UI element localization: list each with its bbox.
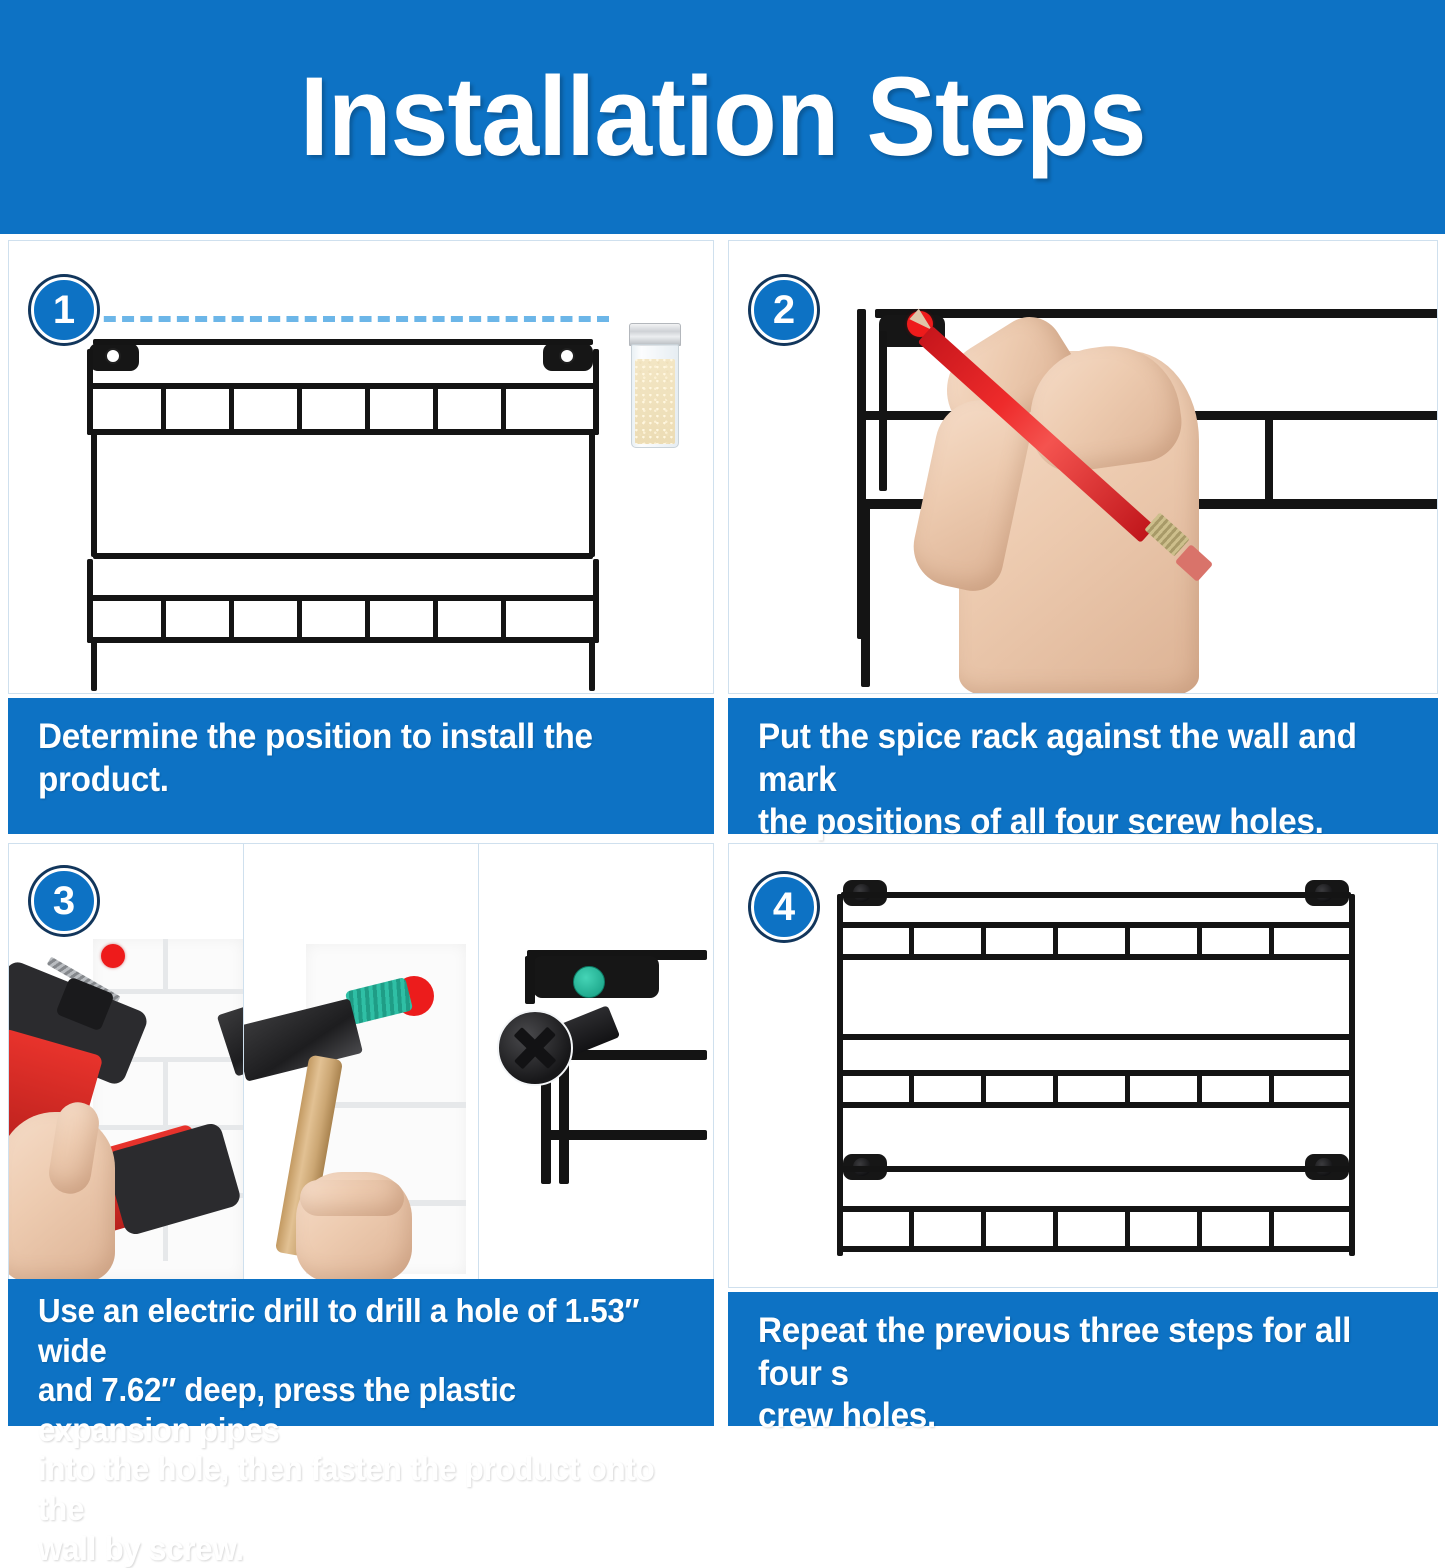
step-3-caption: Use an electric drill to drill a hole of… [8,1279,714,1426]
step-badge-4: 4 [751,874,817,940]
mounted-tier1-front-rail [837,922,1355,928]
screw-hole-top-right [559,348,575,364]
rack-right-spine [589,431,595,557]
mounted-tier2-div-1 [909,1072,914,1104]
mounted-tier3-div-6 [1269,1208,1274,1248]
step-badge-2: 2 [751,277,817,343]
brick-line-5 [163,939,168,989]
anchor-in-wall-icon [573,966,605,998]
mounted-tier3-top-rail [841,1166,1351,1172]
rack-lower-left-post [91,641,97,691]
jar-glass-body [631,344,679,448]
rack-tier2-divider-4 [365,597,370,641]
rack-tier2-divider-5 [433,597,438,641]
rack-angled-bottom-post [861,507,870,687]
substep-fasten-screw [479,844,713,1285]
mounted-tier2-div-2 [981,1072,986,1104]
mounted-tier3-div-4 [1125,1208,1130,1248]
header-banner: Installation Steps [0,0,1445,234]
rack-tier1-right-post [593,349,599,435]
rack-tier1-divider-5 [433,385,438,433]
rack-tier1-divider-4 [365,385,370,433]
rack-tier1-divider-6 [501,385,506,433]
rack-tier2-divider-1 [161,597,166,641]
step-card-3: 3 Use an electric drill to drill a hole … [8,843,714,1426]
mounted-tier2-div-3 [1053,1072,1058,1104]
rack-lower-right-post [589,641,595,691]
step-2-caption-line-1: Put the spice rack against the wall and … [758,716,1381,801]
step-3-caption-line-2: and 7.62″ deep, press the plastic expans… [38,1370,657,1449]
step-3-illustration: 3 [8,843,714,1286]
step-2-caption: Put the spice rack against the wall and … [728,698,1438,834]
step-4-illustration: 4 [728,843,1438,1288]
screw-hole-top-left [105,348,121,364]
mounted-spice-rack [837,876,1367,1262]
step-1-caption: Determine the position to install the pr… [8,698,714,834]
mounted-tier1-top-rail [841,892,1351,898]
rack-tier1-divider-3 [297,385,302,433]
mounted-tier3-div-1 [909,1208,914,1248]
mounted-tier3-div-5 [1197,1208,1202,1248]
step-3-caption-line-3: into the hole, then fasten the product o… [38,1449,657,1528]
step-card-4: 4 Repeat the previous three steps for al… [728,843,1438,1426]
mounted-tier1-div-2 [981,924,986,956]
mounted-tier2-top-rail [841,1034,1351,1040]
jar-seasoning-fill [635,359,675,444]
mounted-tier3-div-2 [981,1208,986,1248]
mounted-tier2-bottom-rail [837,1102,1355,1108]
step-badge-1: 1 [31,277,97,343]
rack-tier2-top-rail [93,553,593,559]
step-2-illustration: 2 [728,240,1438,694]
mounted-tier2-front-rail [837,1070,1355,1076]
spice-rack-wireframe [87,331,607,661]
step-card-2: 2 Put the spice rack against the wall an… [728,240,1438,834]
jar-lid-icon [629,323,681,346]
step-1-illustration: 1 [8,240,714,694]
rack-tier1-divider-2 [229,385,234,433]
rack-tier1-left-post [87,349,93,435]
step-3-subpanels [9,844,713,1285]
step-4-caption-line-1: Repeat the previous three steps for all … [758,1310,1381,1395]
rack-tier2-divider-3 [297,597,302,641]
rack-tier1-divider-1 [161,385,166,433]
step-3-caption-line-4: wall by screw. [38,1529,657,1568]
mounted-tier1-div-6 [1269,924,1274,956]
mounted-tier1-div-1 [909,924,914,956]
mounted-tier3-div-3 [1053,1208,1058,1248]
mounted-tier1-div-4 [1125,924,1130,956]
alignment-guide-line [49,316,609,322]
rack-left-spine [91,431,97,557]
mounted-tier2-div-4 [1125,1072,1130,1104]
rack-top-rail [93,339,593,345]
rack-detail-left-post [525,956,535,1004]
rack-tier2-right-post [593,559,599,643]
rack-tier2-left-post [87,559,93,643]
step-3-caption-line-1: Use an electric drill to drill a hole of… [38,1291,657,1370]
mounted-tier2-div-6 [1269,1072,1274,1104]
mounted-tier1-div-3 [1053,924,1058,956]
rack-detail-bottom-rail [541,1130,707,1140]
page-title: Installation Steps [300,61,1146,173]
step-4-caption: Repeat the previous three steps for all … [728,1292,1438,1426]
rack-tier2-divider-6 [501,597,506,641]
steps-grid: 1 Determine the position to install the … [0,234,1445,1432]
spice-jar [629,323,681,448]
step-2-caption-line-2: the positions of all four screw holes. [758,801,1381,844]
mounted-tier2-div-5 [1197,1072,1202,1104]
mounted-tier1-div-5 [1197,924,1202,956]
drill-target-mark [101,944,125,968]
step-badge-3: 3 [31,868,97,934]
hand-fingers-hammer [300,1180,404,1216]
substep-hammer-anchor [244,844,479,1285]
brick-line-6 [163,1057,168,1125]
mounted-tier1-bottom-rail [837,954,1355,960]
rack-angled-top-rail [875,309,1438,318]
step-1-caption-line-1: Determine the position to install the pr… [38,716,657,801]
rack-tier2-divider-2 [229,597,234,641]
mounted-tier3-front-rail [837,1206,1355,1212]
mounted-tier3-bottom-rail [837,1246,1355,1252]
rack-angled-divider [1265,413,1273,505]
step-card-1: 1 Determine the position to install the … [8,240,714,834]
